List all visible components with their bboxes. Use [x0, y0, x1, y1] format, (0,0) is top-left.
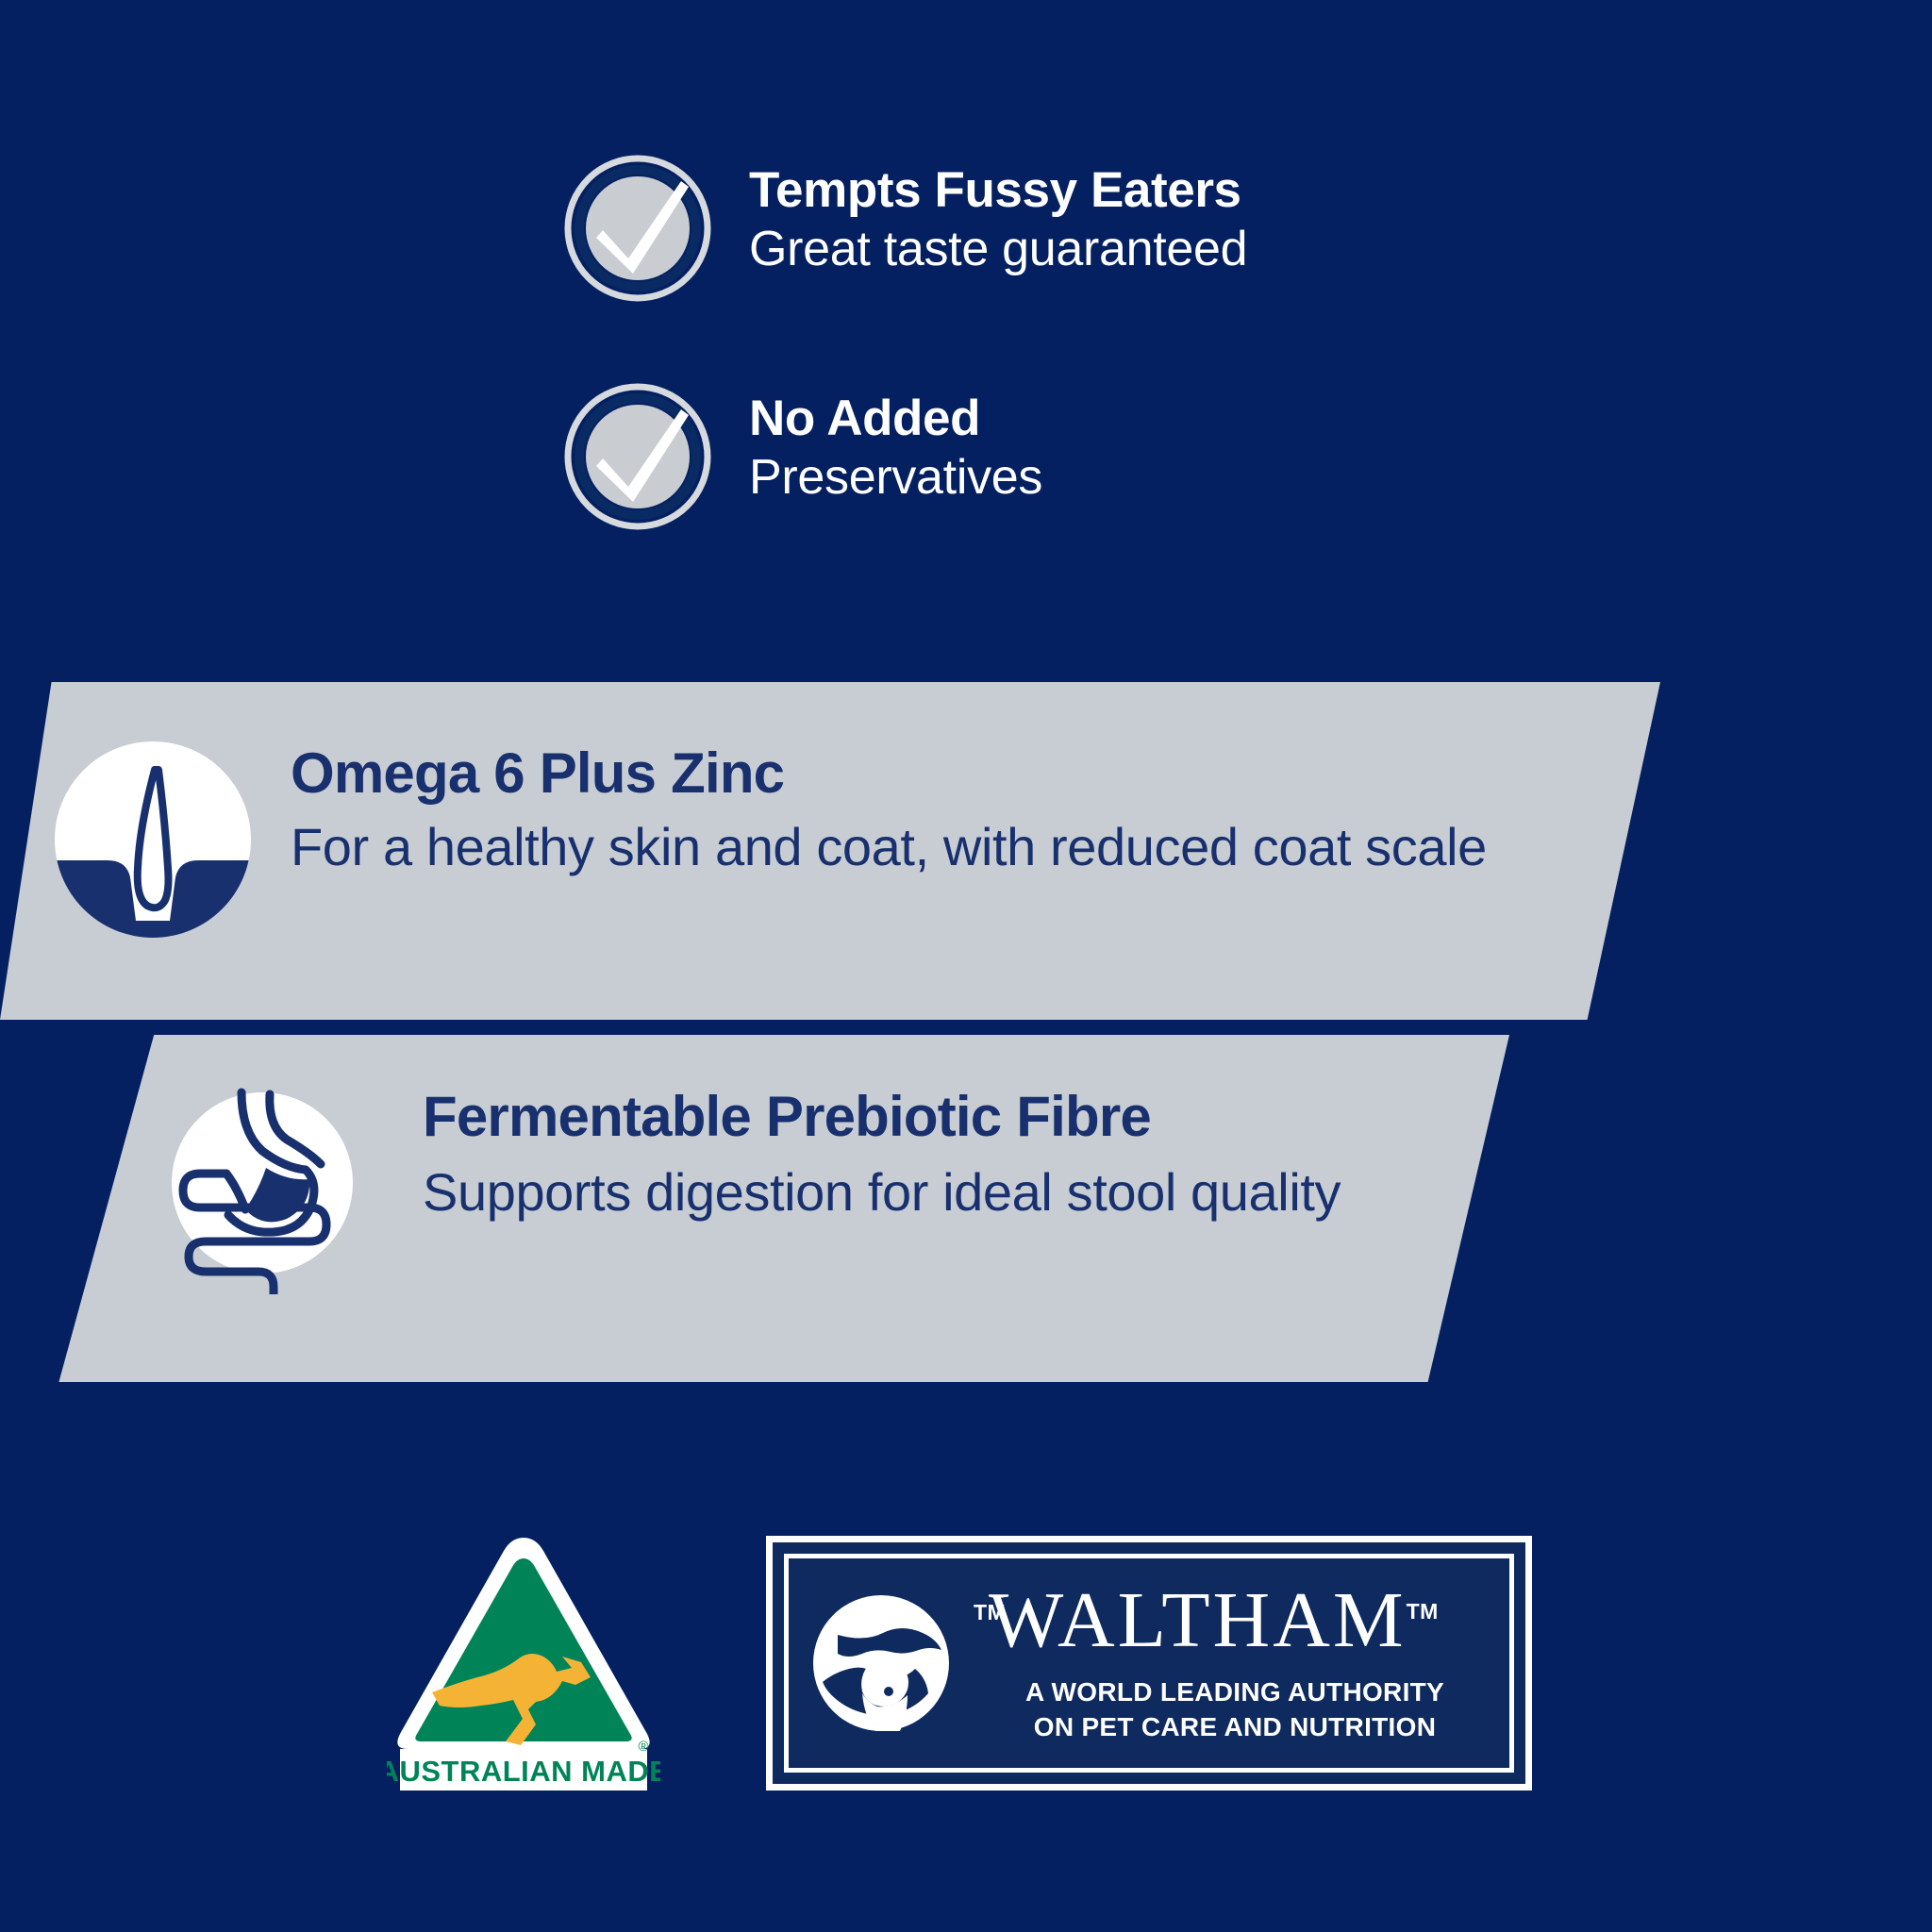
- waltham-brand-trademark-icon: TM: [1407, 1599, 1439, 1624]
- claim-subtitle: Preservatives: [749, 449, 1042, 507]
- feature-text-fermentable-prebiotic-fibre: Fermentable Prebiotic Fibre Supports dig…: [423, 1087, 1479, 1224]
- waltham-wordmark-block: WALTHAMTM A WORLD LEADING AUTHORITY ON P…: [989, 1581, 1509, 1745]
- claim-title: Tempts Fussy Eaters: [749, 162, 1247, 218]
- waltham-logo: TM WALTHAMTM A WORLD LEADING AUTHORITY O…: [766, 1536, 1532, 1790]
- check-circle-icon: [562, 381, 713, 532]
- feature-text-omega-6-plus-zinc: Omega 6 Plus Zinc For a healthy skin and…: [291, 743, 1555, 878]
- waltham-brand-text: WALTHAM: [989, 1576, 1407, 1664]
- digestive-tract-icon: [168, 1077, 366, 1294]
- waltham-logo-frame: TM WALTHAMTM A WORLD LEADING AUTHORITY O…: [784, 1554, 1514, 1773]
- australian-made-logo: AUSTRALIAN MADE ®: [387, 1524, 660, 1800]
- certification-logos: AUSTRALIAN MADE ®: [0, 1509, 1932, 1830]
- feature-title: Omega 6 Plus Zinc: [291, 743, 1555, 805]
- claim-item-no-added-preservatives: No Added Preservatives: [562, 379, 1600, 532]
- feature-title: Fermentable Prebiotic Fibre: [423, 1087, 1479, 1148]
- waltham-tagline-line-1: A WORLD LEADING AUTHORITY: [989, 1675, 1481, 1710]
- claim-title: No Added: [749, 391, 1042, 446]
- claim-item-tempts-fussy-eaters: Tempts Fussy Eaters Great taste guarante…: [562, 151, 1600, 304]
- claim-text-block: Tempts Fussy Eaters Great taste guarante…: [749, 151, 1247, 279]
- waltham-brand-name: WALTHAMTM: [989, 1581, 1509, 1660]
- waltham-tagline: A WORLD LEADING AUTHORITY ON PET CARE AN…: [989, 1675, 1509, 1745]
- waltham-pet-emblem-icon: [809, 1591, 953, 1735]
- claims-list: Tempts Fussy Eaters Great taste guarante…: [562, 151, 1600, 608]
- registered-trademark-icon: ®: [638, 1739, 648, 1755]
- australian-made-label: AUSTRALIAN MADE: [387, 1755, 660, 1788]
- claim-text-block: No Added Preservatives: [749, 379, 1042, 508]
- feature-description: For a healthy skin and coat, with reduce…: [291, 816, 1555, 878]
- waltham-tagline-line-2: ON PET CARE AND NUTRITION: [989, 1710, 1481, 1745]
- hair-follicle-icon: [49, 736, 257, 943]
- claim-subtitle: Great taste guaranteed: [749, 221, 1247, 278]
- product-benefits-panel: Tempts Fussy Eaters Great taste guarante…: [0, 0, 1932, 1932]
- check-circle-icon: [562, 153, 713, 304]
- feature-description: Supports digestion for ideal stool quali…: [423, 1161, 1479, 1224]
